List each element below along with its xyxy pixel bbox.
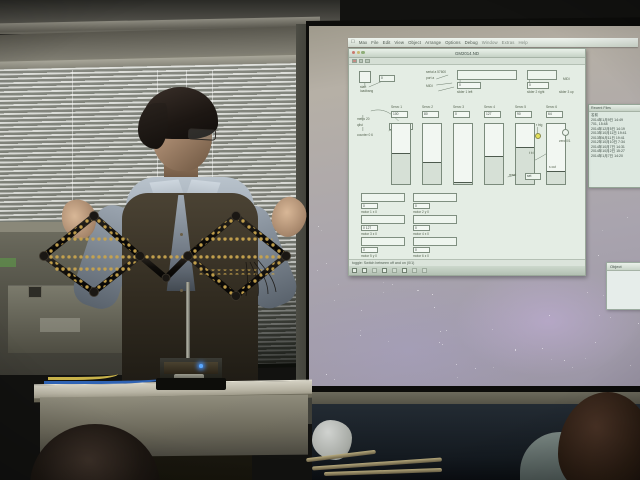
lower-comment: motor 4 x 0 (413, 232, 429, 236)
slider-fill (423, 162, 441, 184)
wallpaper-star (383, 292, 384, 293)
lower-comment: motor 6 z 0 (413, 254, 429, 258)
lower-object-box[interactable] (361, 193, 405, 202)
device-base (156, 378, 226, 390)
comment-counter: counter 0 6 (357, 133, 373, 137)
lower-comment: motor 2 y 0 (413, 210, 429, 214)
message-set[interactable]: set (525, 173, 541, 180)
object-wide-2[interactable] (527, 70, 557, 80)
comment-slider1: slider 1 left (457, 90, 472, 94)
toggle-object[interactable] (359, 71, 371, 83)
slider-label: Servo 5 (515, 105, 526, 109)
lower-object-box[interactable] (413, 215, 457, 224)
comment-r-trig: r trig (536, 123, 542, 127)
wallpaper-star (603, 295, 604, 296)
patcher-toolbar[interactable] (349, 58, 585, 65)
message-icon[interactable] (362, 268, 367, 273)
patcher-titlebar[interactable]: GM2014.ND (349, 49, 585, 58)
lower-number-box[interactable]: 0 (361, 247, 378, 253)
slider-icon[interactable] (412, 268, 417, 273)
eyeglasses (188, 128, 217, 140)
file-list-title: Recent Files (589, 105, 640, 112)
wallpaper-star (551, 359, 552, 360)
pointer-icon[interactable] (359, 59, 364, 64)
vertical-slider[interactable] (422, 123, 442, 185)
wallpaper-star (457, 377, 458, 378)
menu-item-view[interactable]: View (394, 40, 404, 45)
lower-object-box[interactable] (361, 215, 405, 224)
wallpaper-star (440, 331, 441, 332)
menu-item-help[interactable]: Help (518, 40, 527, 45)
menu-item-max[interactable]: Max (359, 40, 367, 45)
lower-number-box[interactable]: 0 (361, 203, 378, 209)
truss-geometry (36, 200, 296, 340)
slider-label: Servo 1 (391, 105, 402, 109)
patcher-canvas[interactable]: 0 start loadbang metro 20 qlist sel 1 0 … (349, 65, 585, 261)
slider-fill (454, 182, 472, 184)
wallpaper-star (542, 348, 543, 349)
wallpaper-star (595, 342, 597, 344)
wallpaper-star (388, 341, 389, 342)
wallpaper-star (434, 307, 435, 308)
slider-fill (485, 156, 503, 184)
lower-comment: motor 5 y 0 (361, 254, 377, 258)
wallpaper-star (602, 230, 603, 231)
comment-icon[interactable] (372, 268, 377, 273)
blue-power-led (199, 364, 203, 368)
wallpaper-star (493, 367, 494, 368)
lower-object-box[interactable] (413, 193, 457, 202)
vertical-slider[interactable] (453, 123, 473, 185)
minimize-icon[interactable] (357, 51, 360, 54)
lower-number-box[interactable]: 0 127 (361, 225, 378, 231)
slider-number-box[interactable]: 0 (453, 111, 470, 118)
menu-item-extras[interactable]: Extras (502, 40, 515, 45)
window-traffic-lights[interactable] (352, 51, 365, 54)
comment-reset: reset (509, 173, 516, 177)
wallpaper-star (446, 330, 447, 331)
wallpaper-star (585, 358, 586, 359)
dial-icon[interactable] (422, 268, 427, 273)
comment-t-b-i: t b i (529, 151, 534, 155)
button-icon[interactable] (392, 268, 397, 273)
wallpaper-star (549, 315, 550, 316)
wallpaper-star (515, 349, 517, 351)
close-icon[interactable] (352, 51, 355, 54)
comment-metro: metro 20 (357, 117, 370, 121)
number-icon[interactable] (402, 268, 407, 273)
max-patcher-window[interactable]: GM2014.ND (348, 48, 586, 276)
slider-number-box[interactable]: 80 (422, 111, 439, 118)
message-box[interactable]: 0 (379, 75, 395, 82)
number-box-1[interactable]: 0 (457, 82, 481, 89)
comment-s-out: s out (549, 165, 556, 169)
wallpaper-star (317, 270, 318, 271)
microcontroller-board (164, 362, 218, 374)
object-inspector-window[interactable]: Object (606, 262, 640, 310)
comment-slider3: slider 3 up (559, 90, 574, 94)
wallpaper-star (338, 284, 339, 285)
wallpaper-star (361, 310, 362, 311)
presenter-hair-side (138, 103, 168, 149)
wallpaper-star (599, 315, 600, 316)
bang-object[interactable] (535, 133, 541, 139)
menu-item-edit[interactable]: Edit (383, 40, 391, 45)
wallpaper-star (442, 344, 443, 345)
lock-icon[interactable] (352, 59, 357, 64)
patcher-palette[interactable] (349, 266, 585, 275)
wallpaper-star (383, 282, 384, 283)
wallpaper-star (456, 364, 457, 365)
zoom-icon[interactable] (361, 51, 364, 54)
object-icon[interactable] (352, 268, 357, 273)
wallpaper-star (627, 217, 628, 218)
vertical-slider[interactable] (391, 123, 411, 185)
wallpaper-star (334, 300, 335, 301)
comment-serial: serial a 57600 (426, 70, 446, 74)
wallpaper-star (492, 329, 493, 330)
wallpaper-star (564, 360, 565, 361)
wallpaper-star (318, 226, 319, 227)
wallpaper-star (432, 294, 433, 295)
slider-number-box[interactable]: 100 (391, 111, 408, 118)
comment-port: port a (426, 76, 434, 80)
rod (306, 450, 376, 463)
lower-number-box[interactable]: 0 (413, 247, 430, 253)
wallpaper-star (572, 367, 573, 368)
wallpaper-star (417, 290, 419, 292)
menu-item-file[interactable]: File (371, 40, 378, 45)
menu-item-debug[interactable]: Debug (465, 40, 478, 45)
menu-item-object[interactable]: Object (408, 40, 421, 45)
spare-truss-rods (312, 440, 512, 480)
wallpaper-star (439, 342, 440, 343)
dial-object[interactable] (562, 129, 569, 136)
screenshot-root:  Max File Edit View Object Arrange Opti… (0, 0, 640, 480)
comment-loadbang: loadbang (360, 89, 373, 93)
file-list[interactable]: 名前 2014年1月9日 14:49 701, 15:48 2014年12月5日… (589, 112, 640, 159)
menu-item-window[interactable]: Window (482, 40, 498, 45)
lower-number-box[interactable]: 0 (413, 203, 430, 209)
object-wide-1[interactable] (457, 70, 517, 80)
file-list-window[interactable]: Recent Files 名前 2014年1月9日 14:49 701, 15:… (588, 104, 640, 188)
wallpaper-star (321, 230, 322, 231)
wallpaper-star (630, 365, 631, 366)
toggle-icon[interactable] (382, 268, 387, 273)
lower-comment: motor 3 z 0 (361, 232, 377, 236)
wallpaper-star (360, 335, 361, 336)
comment-slider2: slider 2 right (527, 90, 544, 94)
apple-logo-icon[interactable]:  (351, 40, 355, 45)
wallpaper-star (587, 292, 588, 293)
wallpaper-star (475, 368, 476, 369)
wallpaper-star (326, 374, 327, 375)
comment-dial: zero 0/1 (559, 139, 571, 143)
patcher-title: GM2014.ND (455, 51, 479, 56)
slider-label: Servo 3 (453, 105, 464, 109)
grid-icon[interactable] (365, 59, 370, 64)
slider-fill (547, 171, 565, 184)
vertical-slider[interactable] (484, 123, 504, 185)
lower-object-box[interactable] (361, 237, 405, 246)
comment-midi-left: MIDI (426, 84, 433, 88)
wallpaper-star (334, 379, 335, 380)
menu-item-arrange[interactable]: Arrange (425, 40, 441, 45)
patcher-status-bar: toggle: Switch between off and on (0/1) (349, 259, 585, 266)
lower-object-box[interactable] (413, 237, 457, 246)
comment-qlist: qlist (357, 123, 363, 127)
slider-number-box[interactable]: 64 (546, 111, 563, 118)
cabinet-green-marker (0, 258, 16, 267)
comment-midi-right: MIDI (563, 77, 570, 81)
menu-item-options[interactable]: Options (445, 40, 461, 45)
slider-label: Servo 2 (422, 105, 433, 109)
slider-fill (392, 153, 410, 184)
object-window-title: Object (607, 263, 640, 271)
slider-label: Servo 6 (546, 105, 557, 109)
slider-number-box[interactable]: 127 (484, 111, 501, 118)
wallpaper-star (610, 317, 611, 318)
wallpaper-star (638, 323, 639, 324)
led-truss-structure (36, 200, 296, 340)
wallpaper-star (360, 330, 361, 331)
slider-number-box[interactable]: 90 (515, 111, 532, 118)
lower-comment: motor 1 x 0 (361, 210, 377, 214)
list-item[interactable]: 2014年1月7日 14:20 (591, 154, 640, 159)
number-box-2[interactable]: 0 (527, 82, 549, 89)
wallpaper-star (392, 284, 393, 285)
os-menubar[interactable]:  Max File Edit View Object Arrange Opti… (348, 38, 638, 47)
slider-label: Servo 4 (484, 105, 495, 109)
wallpaper-star (598, 255, 599, 256)
wallpaper-star (326, 263, 327, 264)
rod (324, 468, 442, 476)
lower-number-box[interactable]: 0 (413, 225, 430, 231)
